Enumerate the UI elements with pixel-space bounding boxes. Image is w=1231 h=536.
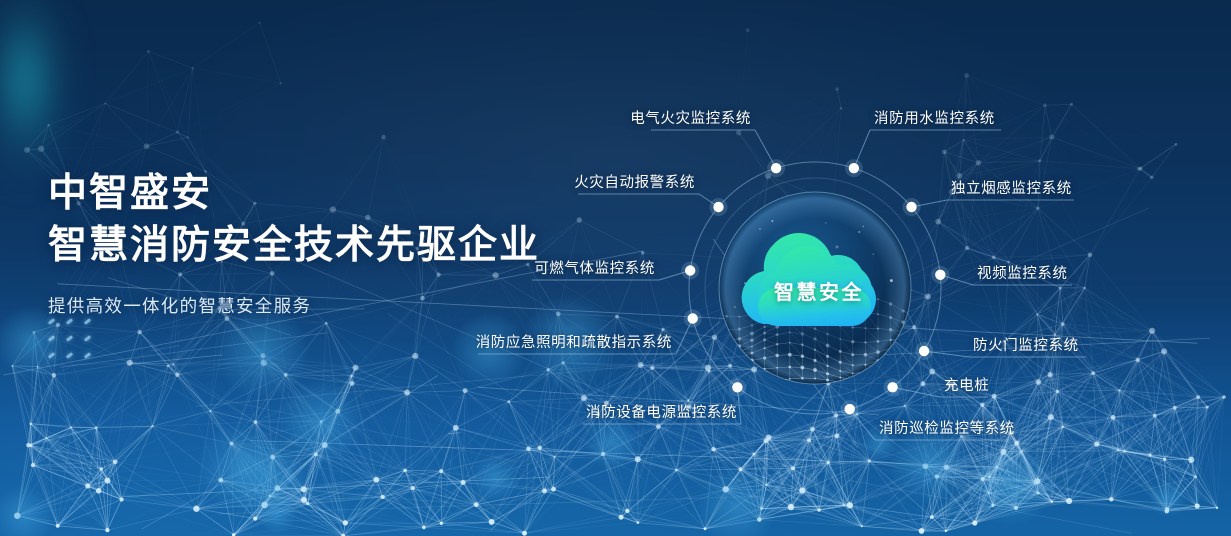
node-dot-n8[interactable]: [919, 346, 929, 356]
node-label-n2[interactable]: 消防用水监控系统: [874, 107, 995, 128]
node-label-n10[interactable]: 消防设备电源监控系统: [586, 401, 737, 422]
node-label-n7[interactable]: 消防应急照明和疏散指示系统: [476, 331, 672, 352]
node-dot-n11[interactable]: [845, 404, 855, 414]
node-label-n1[interactable]: 电气火灾监控系统: [630, 107, 751, 128]
decor-dash: [48, 335, 55, 342]
node-dot-n5[interactable]: [685, 265, 695, 275]
node-label-n11[interactable]: 消防巡检监控等系统: [879, 417, 1015, 438]
connector-n3: [578, 194, 719, 207]
node-label-n5[interactable]: 可燃气体监控系统: [534, 257, 655, 278]
subtitle: 提供高效一体化的智慧安全服务: [48, 293, 540, 318]
connector-n4: [912, 200, 1075, 207]
decor-dash: [66, 352, 73, 359]
node-label-n9[interactable]: 充电桩: [944, 374, 989, 395]
node-dot-n9[interactable]: [887, 382, 897, 392]
node-dot-n6[interactable]: [935, 270, 945, 280]
decor-dash: [84, 318, 91, 325]
connector-n1: [651, 130, 776, 168]
node-dot-n10[interactable]: [732, 382, 742, 392]
decor-dash: [48, 352, 55, 359]
smart-fire-safety-banner: 中智盛安 智慧消防安全技术先驱企业 提供高效一体化的智慧安全服务: [0, 0, 1231, 536]
dot-grid-decoration: [48, 320, 102, 371]
node-dot-n7[interactable]: [688, 313, 698, 323]
decor-dash: [66, 318, 73, 325]
headline-line-1: 中智盛安: [48, 168, 540, 220]
node-label-n3[interactable]: 火灾自动报警系统: [574, 171, 695, 192]
connector-n2: [854, 130, 1001, 168]
node-label-n4[interactable]: 独立烟感监控系统: [951, 177, 1072, 198]
node-dot-n4[interactable]: [906, 202, 916, 212]
node-label-n8[interactable]: 防火门监控系统: [973, 334, 1079, 355]
headline-block: 中智盛安 智慧消防安全技术先驱企业 提供高效一体化的智慧安全服务: [48, 168, 540, 318]
decor-dash: [84, 352, 91, 359]
decor-dash: [48, 318, 55, 325]
node-label-n6[interactable]: 视频监控系统: [977, 262, 1068, 283]
node-dot-n1[interactable]: [771, 163, 781, 173]
node-dot-n3[interactable]: [713, 202, 723, 212]
node-dot-n2[interactable]: [849, 163, 859, 173]
decor-dash: [66, 335, 73, 342]
decor-dash: [84, 335, 91, 342]
headline-line-2: 智慧消防安全技术先驱企业: [48, 220, 540, 272]
